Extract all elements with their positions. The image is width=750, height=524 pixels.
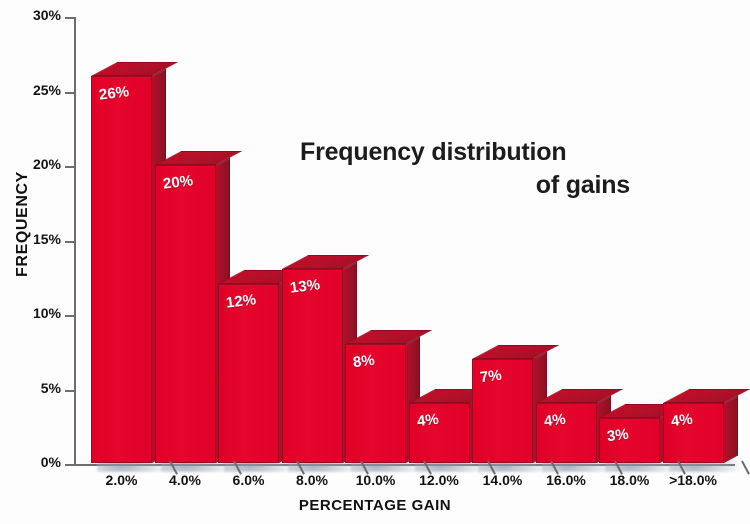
bar-value-label: 12% bbox=[225, 291, 257, 312]
bar-front-face: 7% bbox=[472, 359, 533, 463]
y-tick-mark bbox=[65, 241, 74, 243]
y-tick-label: 0% bbox=[41, 454, 61, 470]
y-axis-title: FREQUENCY bbox=[14, 164, 32, 284]
plot-area: 0%5%10%15%20%25%30% 26%20%12%13%8%4%7%4%… bbox=[74, 17, 734, 465]
bar-front-face: 26% bbox=[91, 76, 152, 463]
y-tick-label: 15% bbox=[33, 231, 61, 247]
x-tick-mark bbox=[741, 461, 750, 475]
bar-front-face: 12% bbox=[218, 284, 279, 463]
y-tick-mark bbox=[65, 92, 74, 94]
bar-value-label: 4% bbox=[670, 411, 694, 431]
y-tick-mark bbox=[65, 464, 74, 466]
frequency-distribution-chart: Frequency distribution of gains FREQUENC… bbox=[0, 0, 750, 524]
bar-value-label: 4% bbox=[543, 411, 567, 431]
bar-front-face: 3% bbox=[599, 418, 660, 463]
y-tick-mark bbox=[65, 390, 74, 392]
y-tick-label: 25% bbox=[33, 82, 61, 98]
bar-value-label: 26% bbox=[98, 83, 130, 104]
y-axis-line bbox=[74, 17, 76, 466]
bar-front-face: 4% bbox=[663, 403, 724, 463]
y-tick-mark bbox=[65, 315, 74, 317]
y-tick-label: 10% bbox=[33, 305, 61, 321]
bar->18.0%[interactable]: 4% bbox=[663, 403, 738, 463]
y-tick-label: 20% bbox=[33, 156, 61, 172]
y-tick-mark bbox=[65, 17, 74, 19]
bar-value-label: 8% bbox=[352, 352, 376, 372]
y-tick-mark bbox=[65, 166, 74, 168]
x-axis-title: PERCENTAGE GAIN bbox=[0, 497, 750, 514]
bar-front-face: 4% bbox=[536, 403, 597, 463]
bar-front-face: 13% bbox=[282, 269, 343, 463]
bar-side-face bbox=[724, 396, 738, 463]
y-tick-label: 30% bbox=[33, 7, 61, 23]
bar-value-label: 7% bbox=[479, 366, 503, 386]
bar-value-label: 20% bbox=[162, 172, 194, 193]
y-tick-label: 5% bbox=[41, 380, 61, 396]
bar-front-face: 20% bbox=[155, 165, 216, 463]
bar-front-face: 4% bbox=[409, 403, 470, 463]
x-tick-label->18.0%: >18.0% bbox=[654, 472, 733, 488]
bar-value-label: 4% bbox=[416, 411, 440, 431]
bar-value-label: 13% bbox=[289, 277, 321, 298]
bar-front-face: 8% bbox=[345, 344, 406, 463]
bar-value-label: 3% bbox=[606, 426, 630, 446]
